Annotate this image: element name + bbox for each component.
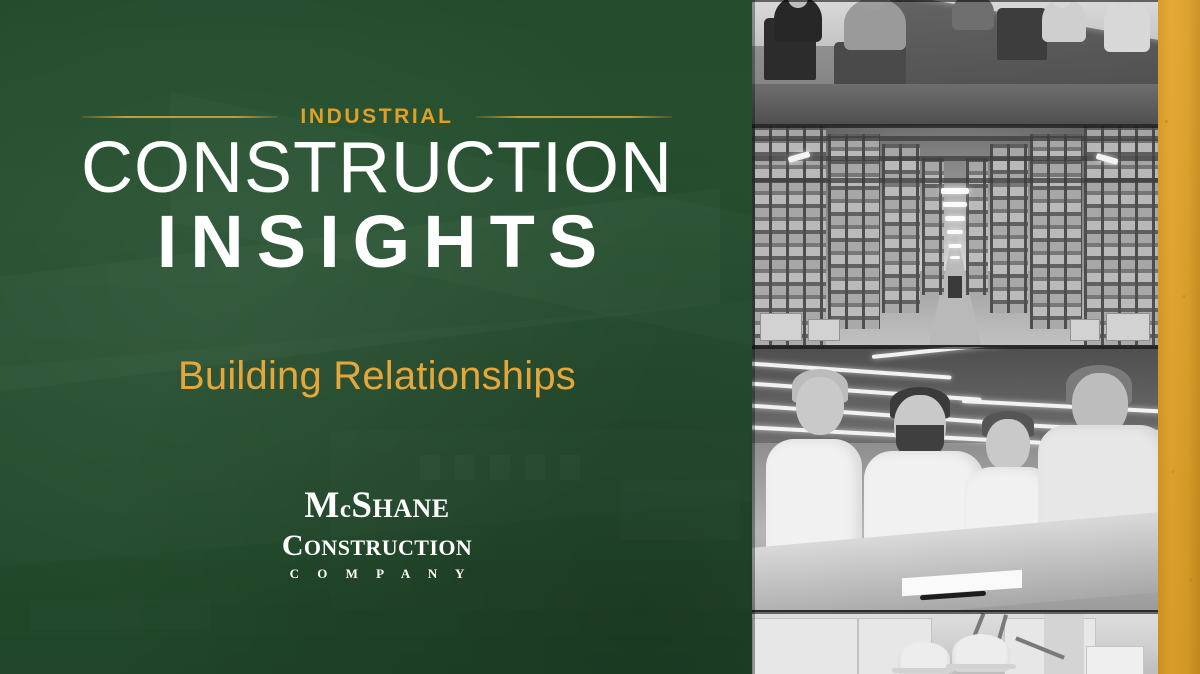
mcshane-logo: McSHANE CONSTRUCTION C O M P A N Y — [0, 487, 754, 582]
logo-letters-onstruction: ONSTRUCTION — [304, 535, 472, 560]
subtitle: Building Relationships — [0, 352, 754, 400]
presentation-slide: INDUSTRIAL CONSTRUCTION INSIGHTS Buildin… — [0, 0, 1200, 674]
green-title-panel: INDUSTRIAL CONSTRUCTION INSIGHTS Buildin… — [0, 0, 754, 674]
photo-column-seam — [752, 0, 755, 674]
photo-column — [752, 0, 1158, 674]
logo-letter-c: c — [340, 496, 352, 523]
gold-accent-bar — [1158, 0, 1200, 674]
rule-left-icon — [82, 116, 278, 118]
logo-letters-hane: HANE — [373, 494, 450, 523]
photo-office-meeting — [752, 347, 1158, 610]
photo-warehouse — [752, 126, 1158, 345]
logo-line-construction: CONSTRUCTION — [0, 530, 754, 563]
title-line-2: INSIGHTS — [0, 202, 754, 282]
eyebrow-row: INDUSTRIAL — [0, 103, 754, 131]
photo-jobsite — [752, 612, 1158, 674]
logo-line-company: C O M P A N Y — [0, 566, 754, 582]
logo-letter-c2: C — [282, 529, 304, 562]
logo-letter-m: M — [304, 485, 339, 526]
logo-letter-s: S — [351, 485, 372, 526]
eyebrow-label: INDUSTRIAL — [300, 105, 453, 129]
photo-boardroom — [752, 0, 1158, 124]
rule-right-icon — [476, 116, 672, 118]
logo-line-mcshane: McSHANE — [0, 487, 754, 529]
title-line-1: CONSTRUCTION — [0, 132, 754, 204]
